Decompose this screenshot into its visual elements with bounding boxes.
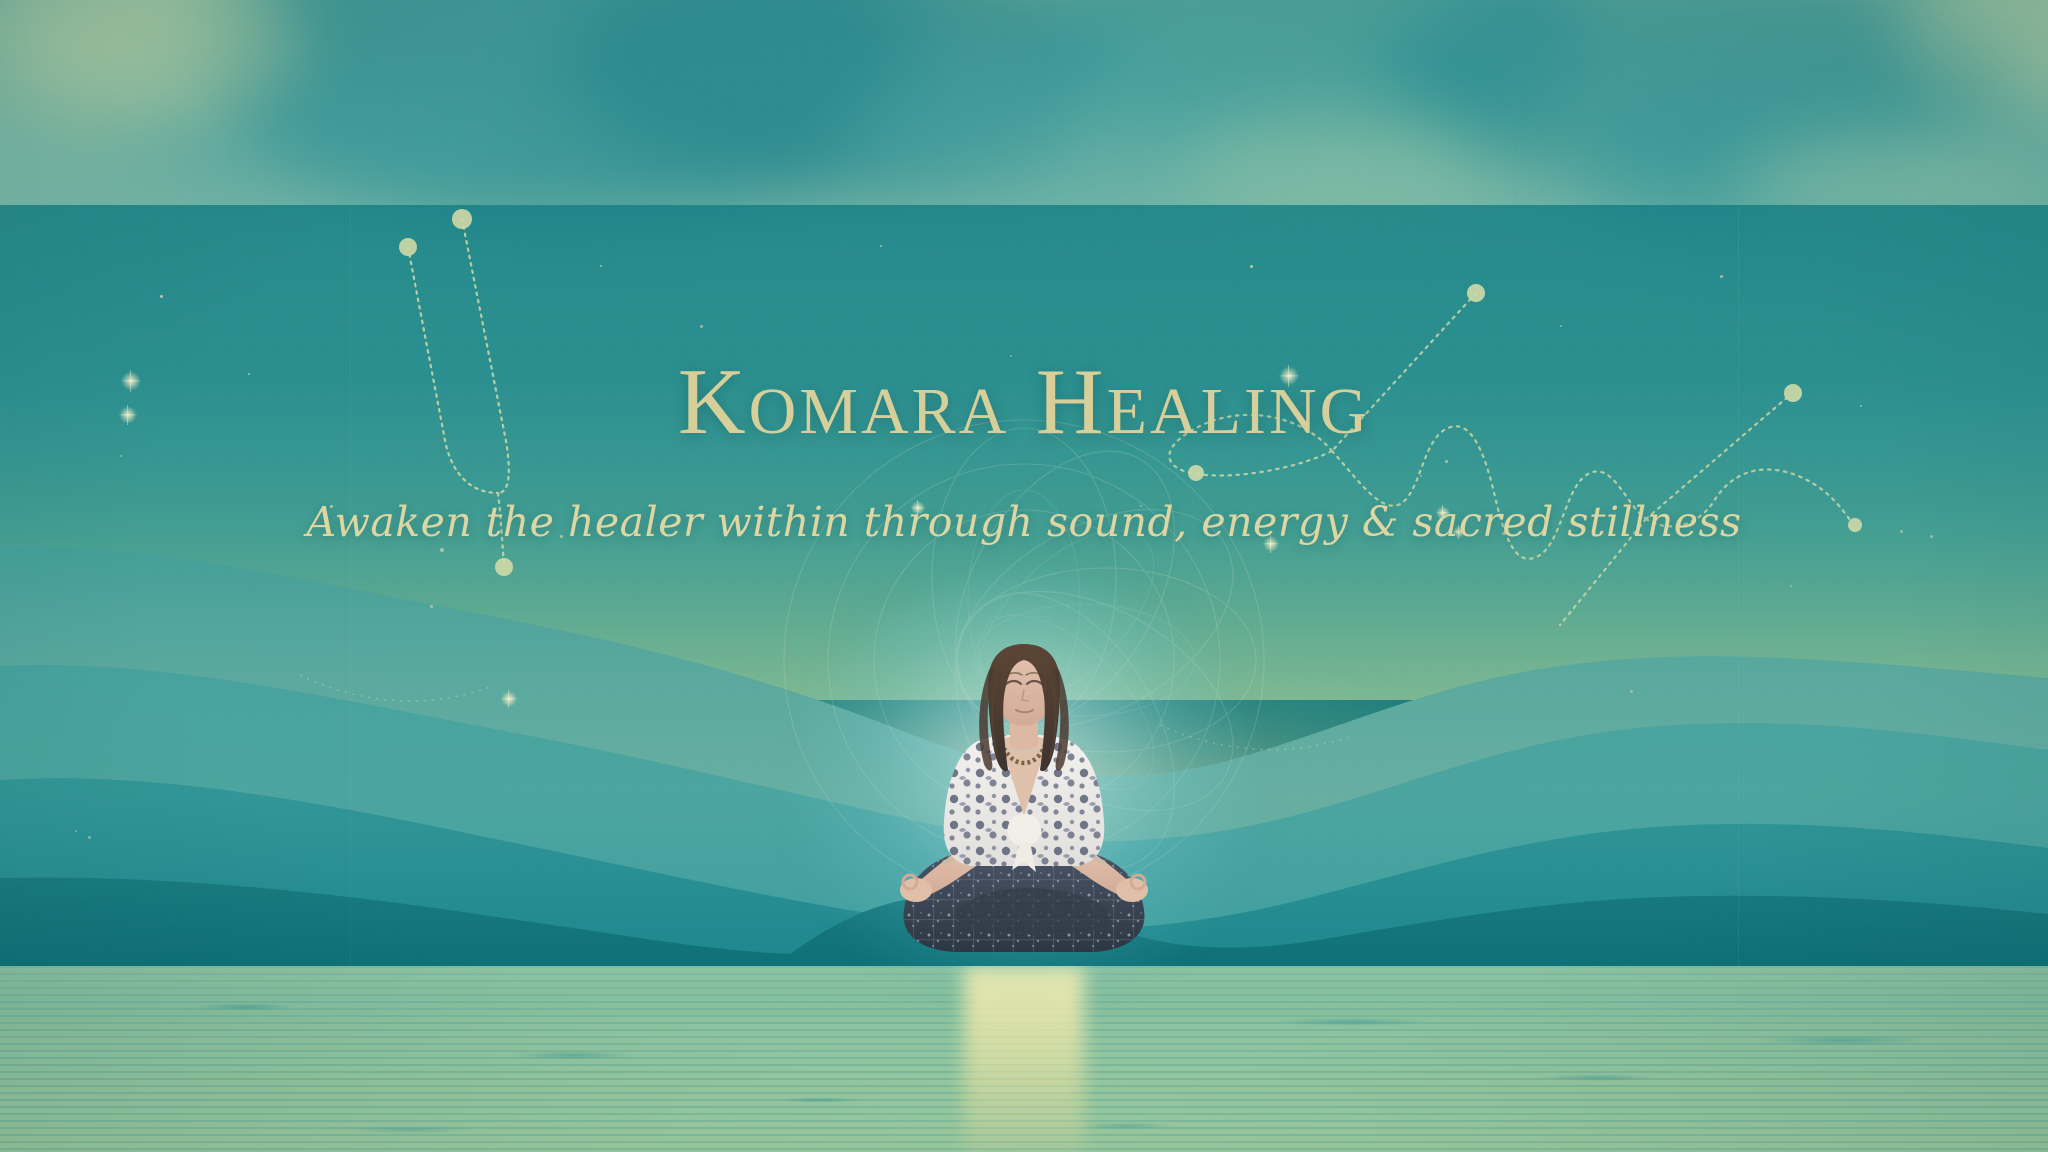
cloud [1180, 110, 1480, 220]
star-sparkle [430, 605, 433, 608]
brand-tagline: Awaken the healer within through sound, … [0, 500, 2048, 545]
meditator-figure [844, 610, 1204, 970]
woman-meditating-silhouette-icon [844, 610, 1204, 970]
panel-edge-left [350, 205, 351, 980]
star-sparkle [1560, 325, 1562, 327]
star-sparkle [700, 325, 703, 328]
panel-edge-right [1738, 205, 1739, 980]
star-sparkle [880, 245, 882, 247]
star-sparkle [1420, 475, 1422, 477]
star-sparkle [600, 265, 602, 267]
star-sparkle [1790, 585, 1792, 587]
star-sparkle [1720, 275, 1723, 278]
star-sparkle [120, 455, 122, 457]
hero-banner: Komara Healing Awaken the healer within … [0, 0, 2048, 1152]
star-sparkle [160, 295, 163, 298]
star-sparkle [1250, 265, 1253, 268]
brand-title: Komara Healing [0, 355, 2048, 449]
